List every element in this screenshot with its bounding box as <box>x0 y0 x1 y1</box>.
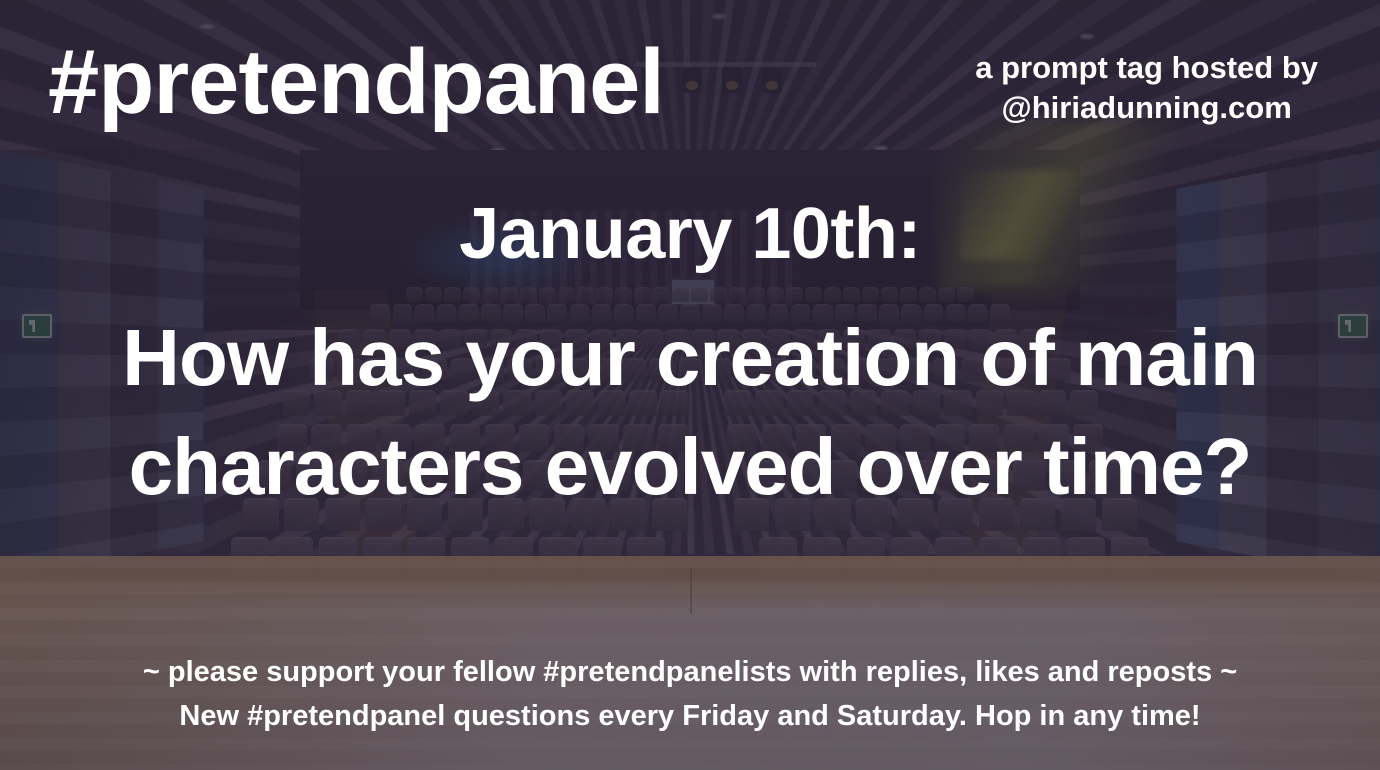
footer-line-1: ~ please support your fellow #pretendpan… <box>0 651 1380 695</box>
host-handle: @hiriadunning.com <box>975 88 1318 128</box>
prompt-question-line-2: characters evolved over time? <box>0 413 1380 522</box>
pretendpanel-promo-poster: #pretendpanel a prompt tag hosted by @hi… <box>0 0 1380 770</box>
host-credit-line-1: a prompt tag hosted by <box>975 48 1318 88</box>
prompt-date: January 10th: <box>0 198 1380 270</box>
host-credit: a prompt tag hosted by @hiriadunning.com <box>975 48 1318 127</box>
footer-note: ~ please support your fellow #pretendpan… <box>0 651 1380 738</box>
footer-line-2: New #pretendpanel questions every Friday… <box>0 695 1380 739</box>
prompt-question: How has your creation of main characters… <box>0 304 1380 522</box>
prompt-question-line-1: How has your creation of main <box>0 304 1380 413</box>
poster-content: #pretendpanel a prompt tag hosted by @hi… <box>0 0 1380 770</box>
page-title: #pretendpanel <box>48 36 664 128</box>
